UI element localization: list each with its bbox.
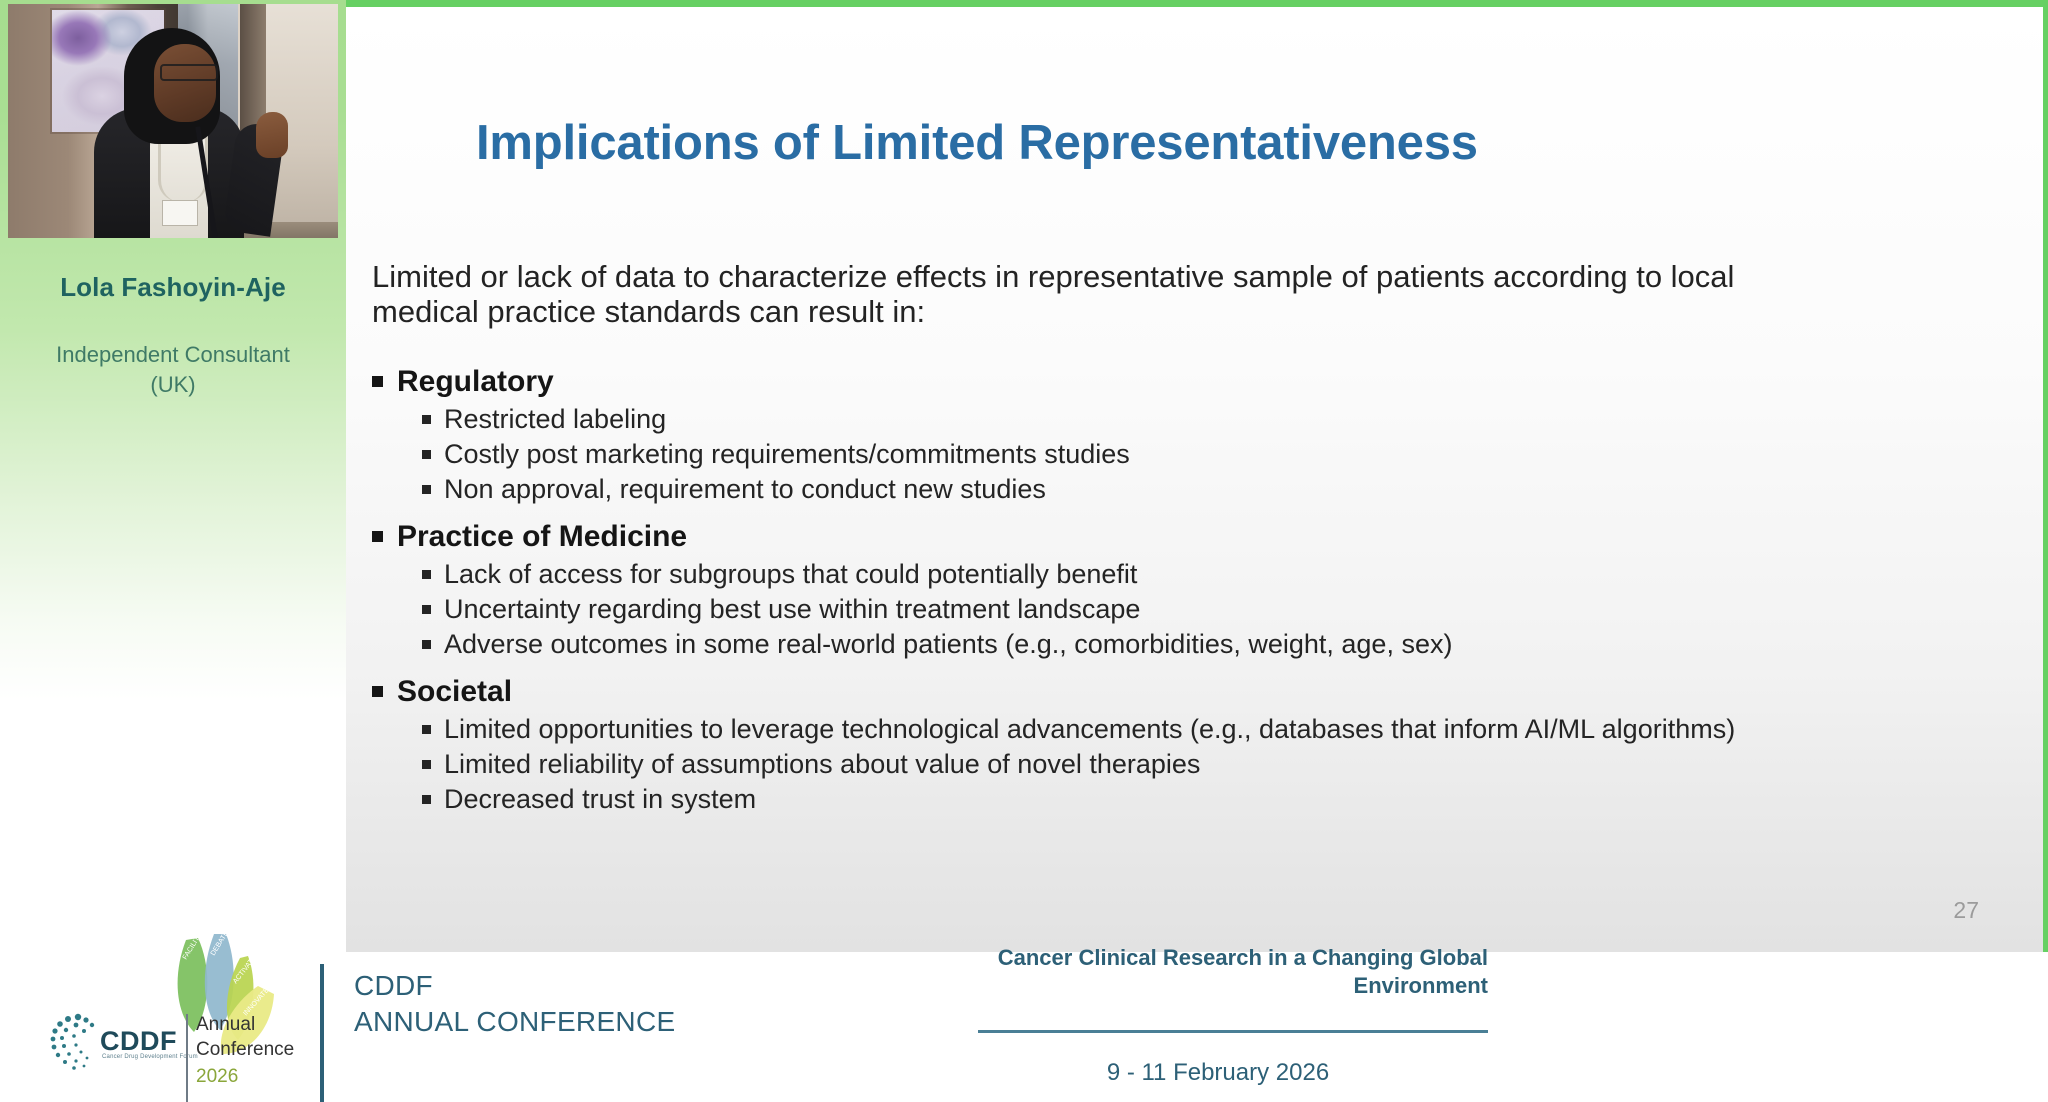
speaker-name: Lola Fashoyin-Aje (0, 272, 346, 303)
bullet-group-heading: Practice of Medicine (372, 517, 1932, 557)
speaker-badge (162, 200, 198, 226)
annual-conference-label: Annual Conference (196, 1012, 294, 1062)
annual-label-line2: Conference (196, 1037, 294, 1062)
square-bullet-icon (422, 605, 431, 614)
annual-label-line1: Annual (196, 1012, 294, 1037)
bullet-item-text: Costly post marketing requirements/commi… (444, 437, 1130, 472)
bullet-group-heading: Societal (372, 672, 1932, 712)
bullet-item-text: Restricted labeling (444, 402, 666, 437)
bullet-item: Uncertainty regarding best use within tr… (422, 592, 1932, 627)
square-bullet-icon (422, 485, 431, 494)
slide-page-number: 27 (1953, 897, 1979, 924)
slide-lead-paragraph: Limited or lack of data to characterize … (372, 259, 1792, 329)
slide-title: Implications of Limited Representativene… (476, 115, 1478, 171)
square-bullet-icon (422, 795, 431, 804)
cddf-wordmark: CDDF (100, 1026, 177, 1057)
bullet-group-heading-text: Practice of Medicine (397, 517, 687, 557)
bullet-group: SocietalLimited opportunities to leverag… (372, 672, 1932, 817)
bullet-item: Non approval, requirement to conduct new… (422, 472, 1932, 507)
cddf-subtitle: Cancer Drug Development Forum (102, 1054, 198, 1060)
bullet-item: Limited opportunities to leverage techno… (422, 712, 1932, 747)
bullet-group: Practice of MedicineLack of access for s… (372, 517, 1932, 662)
cddf-wordmark-group: CDDF Cancer Drug Development Forum (48, 1012, 178, 1074)
conference-theme-title: Cancer Clinical Research in a Changing G… (948, 944, 1488, 1000)
footer-divider (320, 964, 324, 1102)
speaker-hand (256, 112, 288, 158)
speaker-affiliation-line1: Independent Consultant (0, 340, 346, 370)
footer-conference-info: Cancer Clinical Research in a Changing G… (948, 944, 1488, 1087)
cddf-logo-lockup: FACILITATE DEBATE ACTIVATE INNOVATE (38, 948, 308, 1102)
footer-rule (978, 1030, 1488, 1033)
footer-brand: CDDF ANNUAL CONFERENCE (354, 968, 675, 1040)
bullet-item-text: Adverse outcomes in some real-world pati… (444, 627, 1452, 662)
bullet-item-text: Decreased trust in system (444, 782, 756, 817)
square-bullet-icon (372, 531, 383, 542)
bullet-group-heading-text: Regulatory (397, 362, 554, 402)
footer-brand-line2: ANNUAL CONFERENCE (354, 1004, 675, 1040)
glasses-icon (160, 64, 218, 81)
bullet-item: Costly post marketing requirements/commi… (422, 437, 1932, 472)
footer-brand-line1: CDDF (354, 968, 675, 1004)
square-bullet-icon (422, 450, 431, 459)
speaker-affiliation-line2: (UK) (0, 370, 346, 400)
bullet-item-text: Lack of access for subgroups that could … (444, 557, 1137, 592)
conference-footer: CDDF ANNUAL CONFERENCE Cancer Clinical R… (320, 952, 2048, 1102)
bullet-item: Decreased trust in system (422, 782, 1932, 817)
square-bullet-icon (422, 760, 431, 769)
cddf-dots-icon (48, 1012, 102, 1072)
speaker-affiliation: Independent Consultant (UK) (0, 340, 346, 400)
bullet-group-heading: Regulatory (372, 362, 1932, 402)
bullet-item: Limited reliability of assumptions about… (422, 747, 1932, 782)
conference-year: 2026 (196, 1066, 238, 1088)
square-bullet-icon (422, 725, 431, 734)
bullet-item-text: Limited opportunities to leverage techno… (444, 712, 1735, 747)
square-bullet-icon (422, 640, 431, 649)
square-bullet-icon (372, 686, 383, 697)
bullet-item-text: Uncertainty regarding best use within tr… (444, 592, 1140, 627)
speaker-video-thumbnail[interactable] (8, 4, 338, 238)
conference-dates: 9 - 11 February 2026 (948, 1059, 1488, 1087)
slide-bullet-list: RegulatoryRestricted labelingCostly post… (372, 352, 1932, 823)
bullet-item-text: Limited reliability of assumptions about… (444, 747, 1200, 782)
bullet-group-heading-text: Societal (397, 672, 512, 712)
bullet-item: Lack of access for subgroups that could … (422, 557, 1932, 592)
screen-root: Lola Fashoyin-Aje Independent Consultant… (0, 0, 2048, 1102)
presentation-slide[interactable]: Implications of Limited Representativene… (346, 0, 2048, 952)
speaker-sidebar: Lola Fashoyin-Aje Independent Consultant… (0, 0, 346, 1102)
bullet-item: Adverse outcomes in some real-world pati… (422, 627, 1932, 662)
bullet-item-text: Non approval, requirement to conduct new… (444, 472, 1046, 507)
speaker-face (154, 44, 216, 122)
square-bullet-icon (422, 570, 431, 579)
logo-divider (186, 1014, 188, 1102)
square-bullet-icon (372, 376, 383, 387)
square-bullet-icon (422, 415, 431, 424)
bullet-item: Restricted labeling (422, 402, 1932, 437)
bullet-group: RegulatoryRestricted labelingCostly post… (372, 362, 1932, 507)
